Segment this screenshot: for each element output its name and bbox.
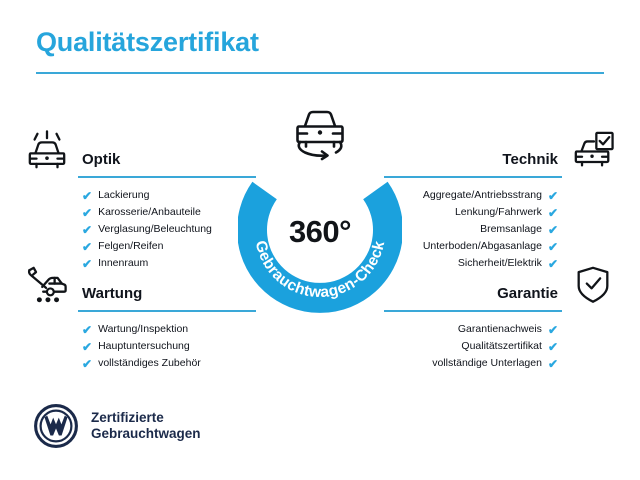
list-item-label: Garantienachweis	[458, 321, 542, 338]
list-item: ✔Verglasung/Beleuchtung	[82, 221, 256, 238]
car-checkbox-icon	[570, 130, 616, 172]
360-check-badge: Gebrauchtwagen-Check 360°	[238, 150, 402, 314]
check-icon: ✔	[82, 207, 92, 219]
list-item-label: vollständiges Zubehör	[98, 355, 201, 372]
list-item: vollständige Unterlagen✔	[384, 355, 558, 372]
list-item: Garantienachweis✔	[384, 321, 558, 338]
header-divider	[36, 72, 604, 74]
page-title: Qualitätszertifikat	[36, 28, 604, 58]
check-icon: ✔	[82, 190, 92, 202]
certificate-page: Qualitätszertifikat	[0, 0, 640, 480]
list-item: Lenkung/Fahrwerk✔	[384, 204, 558, 221]
section-title: Optik	[70, 151, 120, 172]
check-icon: ✔	[82, 224, 92, 236]
list-item-label: Unterboden/Abgasanlage	[423, 238, 542, 255]
list-item-label: vollständige Unterlagen	[432, 355, 542, 372]
checklist-technik: Aggregate/Antriebsstrang✔ Lenkung/Fahrwe…	[384, 187, 616, 272]
section-header: Optik	[24, 128, 256, 172]
check-icon: ✔	[548, 224, 558, 236]
section-title: Technik	[502, 151, 570, 172]
section-divider	[78, 176, 256, 178]
check-icon: ✔	[548, 241, 558, 253]
check-icon: ✔	[548, 190, 558, 202]
check-icon: ✔	[548, 341, 558, 353]
list-item: ✔Hauptuntersuchung	[82, 338, 256, 355]
section-optik: Optik ✔Lackierung ✔Karosserie/Anbauteile…	[24, 128, 256, 272]
list-item-label: Karosserie/Anbauteile	[98, 204, 201, 221]
vw-logo-icon	[34, 404, 78, 448]
check-icon: ✔	[82, 358, 92, 370]
list-item-label: Bremsanlage	[480, 221, 542, 238]
list-item: ✔Lackierung	[82, 187, 256, 204]
list-item-label: Wartung/Inspektion	[98, 321, 188, 338]
check-icon: ✔	[82, 324, 92, 336]
car-wrench-icon	[24, 264, 70, 306]
checklist-wartung: ✔Wartung/Inspektion ✔Hauptuntersuchung ✔…	[24, 321, 256, 372]
list-item-label: Verglasung/Beleuchtung	[98, 221, 212, 238]
car-rotate-icon	[285, 108, 355, 164]
list-item-label: Lenkung/Fahrwerk	[455, 204, 542, 221]
section-divider	[384, 310, 562, 312]
list-item: Bremsanlage✔	[384, 221, 558, 238]
section-header: Wartung	[24, 262, 256, 306]
list-item: ✔Wartung/Inspektion	[82, 321, 256, 338]
section-divider	[384, 176, 562, 178]
list-item: ✔Felgen/Reifen	[82, 238, 256, 255]
check-icon: ✔	[548, 207, 558, 219]
header: Qualitätszertifikat	[36, 28, 604, 74]
list-item-label: Aggregate/Antriebsstrang	[423, 187, 542, 204]
brand-text: Zertifizierte Gebrauchtwagen	[91, 410, 201, 442]
section-technik: Technik Ag	[384, 128, 616, 272]
check-icon: ✔	[82, 341, 92, 353]
list-item-label: Qualitätszertifikat	[461, 338, 542, 355]
section-wartung: Wartung ✔Wartung/Inspektion ✔Hauptunters…	[24, 262, 256, 372]
brand-line-1: Zertifizierte	[91, 410, 201, 426]
brand-line-2: Gebrauchtwagen	[91, 426, 201, 442]
list-item: Unterboden/Abgasanlage✔	[384, 238, 558, 255]
list-item-label: Felgen/Reifen	[98, 238, 163, 255]
shield-check-icon	[570, 264, 616, 306]
badge-center-label: 360°	[238, 150, 402, 314]
list-item: ✔Karosserie/Anbauteile	[82, 204, 256, 221]
list-item-label: Lackierung	[98, 187, 149, 204]
car-shine-icon	[24, 130, 70, 172]
check-icon: ✔	[548, 324, 558, 336]
list-item: Aggregate/Antriebsstrang✔	[384, 187, 558, 204]
list-item: ✔vollständiges Zubehör	[82, 355, 256, 372]
section-header: Garantie	[384, 262, 616, 306]
list-item-label: Hauptuntersuchung	[98, 338, 190, 355]
section-title: Garantie	[497, 285, 570, 306]
check-icon: ✔	[548, 358, 558, 370]
checklist-garantie: Garantienachweis✔ Qualitätszertifikat✔ v…	[384, 321, 616, 372]
section-header: Technik	[384, 128, 616, 172]
section-title: Wartung	[70, 285, 142, 306]
section-garantie: Garantie Garantienachweis✔ Qualitätszert…	[384, 262, 616, 372]
list-item: Qualitätszertifikat✔	[384, 338, 558, 355]
section-divider	[78, 310, 256, 312]
check-icon: ✔	[82, 241, 92, 253]
brand-lockup: Zertifizierte Gebrauchtwagen	[34, 404, 201, 448]
checklist-optik: ✔Lackierung ✔Karosserie/Anbauteile ✔Verg…	[24, 187, 256, 272]
